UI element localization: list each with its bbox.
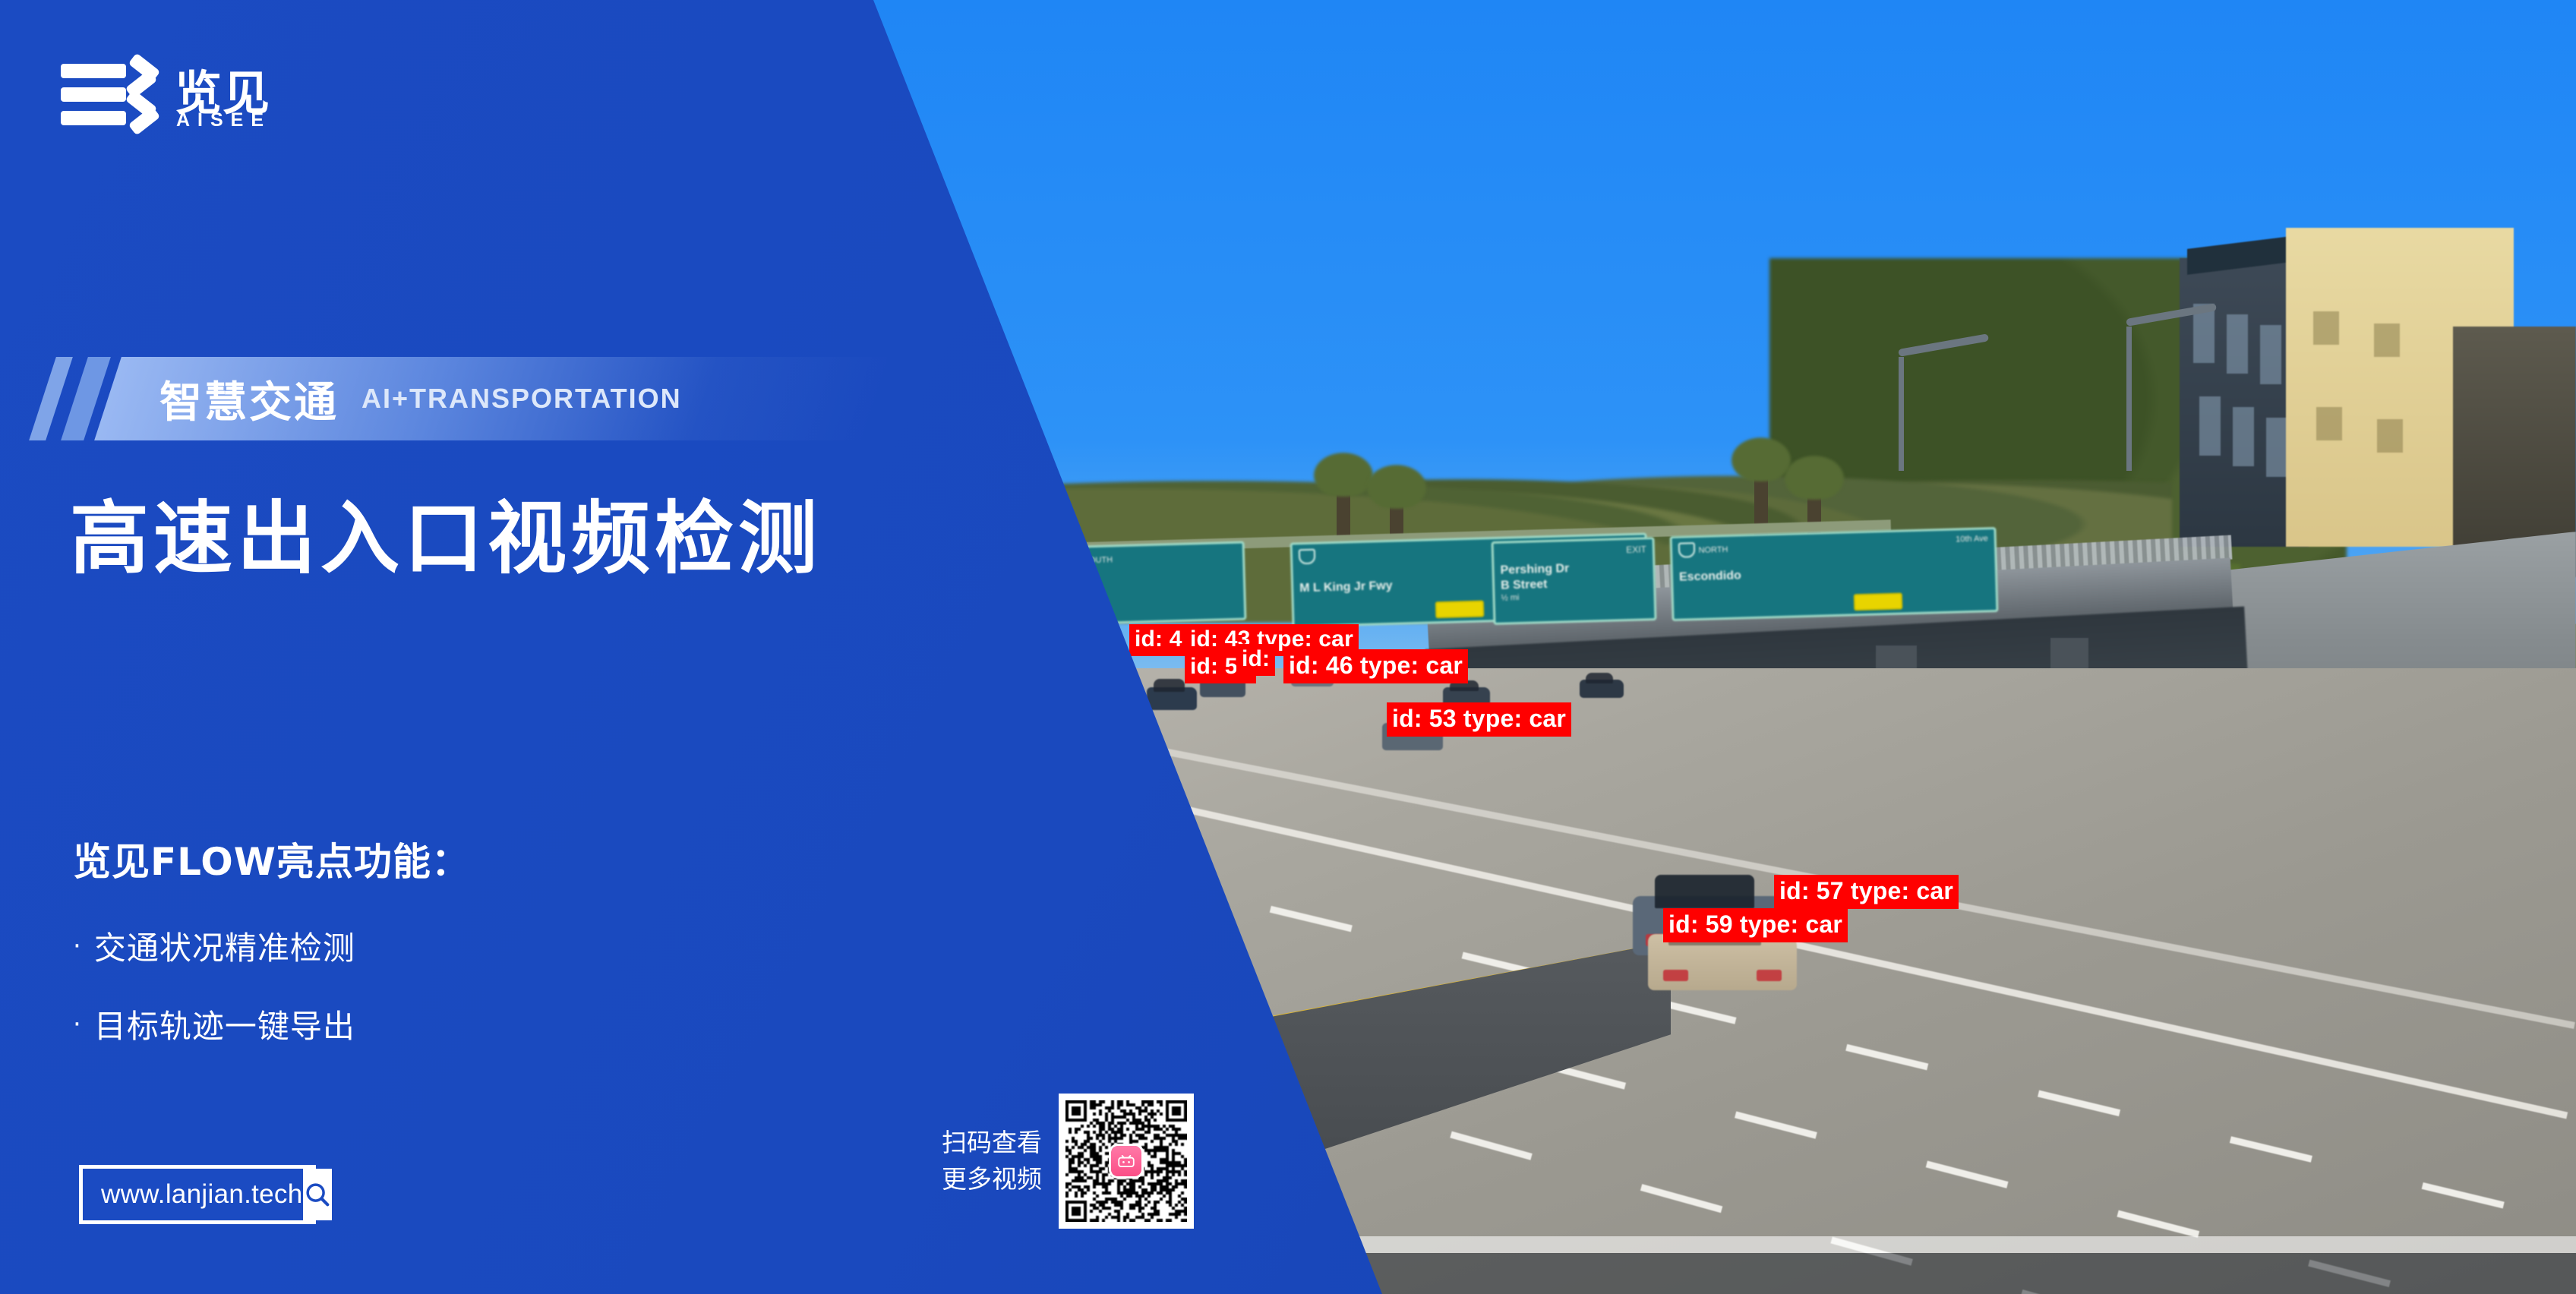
- logo-wordmark-en: AISEE: [176, 109, 271, 131]
- bullet-icon: ·: [73, 1012, 82, 1037]
- brand-logo: 览见 AISEE: [61, 53, 289, 137]
- vehicle: [1648, 934, 1797, 990]
- qr-code[interactable]: [1059, 1094, 1194, 1229]
- search-icon: [303, 1180, 332, 1209]
- highway-sign-line2: Escondido: [1679, 562, 1989, 585]
- detection-label: id: 46 type: car: [1283, 649, 1468, 683]
- highway-sign-line3: 10th Ave: [1956, 534, 1988, 545]
- list-item-label: 目标轨迹一键导出: [94, 1001, 355, 1047]
- list-item-label: 交通状况精准检测: [94, 923, 355, 969]
- feature-list: 览见FLOW亮点功能： · 交通状况精准检测 · 目标轨迹一键导出: [73, 832, 756, 1079]
- vehicle: [1580, 680, 1624, 698]
- street-lamp: [2126, 327, 2132, 471]
- highway-sign-pershing: EXIT Pershing Dr B Street ½ mi: [1492, 537, 1657, 625]
- list-item: · 交通状况精准检测: [73, 923, 756, 969]
- detection-label: id: 4: [1129, 624, 1188, 656]
- qr-caption: 扫码查看 更多视频: [942, 1125, 1042, 1198]
- detection-label: id: 57 type: car: [1774, 875, 1959, 909]
- search-button[interactable]: [303, 1169, 332, 1220]
- street-lamp: [1899, 357, 1904, 471]
- website-url-input[interactable]: www.lanjian.tech: [83, 1169, 303, 1220]
- kicker-title-en: AI+TRANSPORTATION: [361, 383, 682, 415]
- bullet-icon: ·: [73, 933, 82, 959]
- highway-sign-escondido: NORTH 10th Ave Escondido: [1670, 527, 1999, 621]
- detection-label: id: 59 type: car: [1663, 908, 1848, 942]
- detection-label: id:: [1236, 644, 1275, 676]
- logo-chevron-icon: [129, 58, 164, 131]
- qr-block: 扫码查看 更多视频: [942, 1094, 1194, 1229]
- vehicle: [1147, 687, 1197, 710]
- feature-list-title: 览见FLOW亮点功能：: [73, 832, 756, 886]
- kicker-banner: 智慧交通 AI+TRANSPORTATION: [38, 357, 889, 440]
- qr-caption-line2: 更多视频: [942, 1161, 1042, 1198]
- qr-caption-line1: 扫码查看: [942, 1125, 1042, 1161]
- detection-label: id: 53 type: car: [1387, 702, 1571, 737]
- website-search-bar[interactable]: www.lanjian.tech: [79, 1165, 316, 1224]
- list-item: · 目标轨迹一键导出: [73, 1001, 756, 1047]
- kicker-title-cn: 智慧交通: [159, 368, 339, 430]
- banner-canvas: SOUTH Vista EXIT M L King Jr Fwy EXIT Pe…: [0, 0, 2576, 1294]
- highway-sign-line1: NORTH: [1698, 545, 1728, 555]
- page-title: 高速出入口视频检测: [70, 494, 822, 585]
- bilibili-logo-icon: [1111, 1146, 1141, 1176]
